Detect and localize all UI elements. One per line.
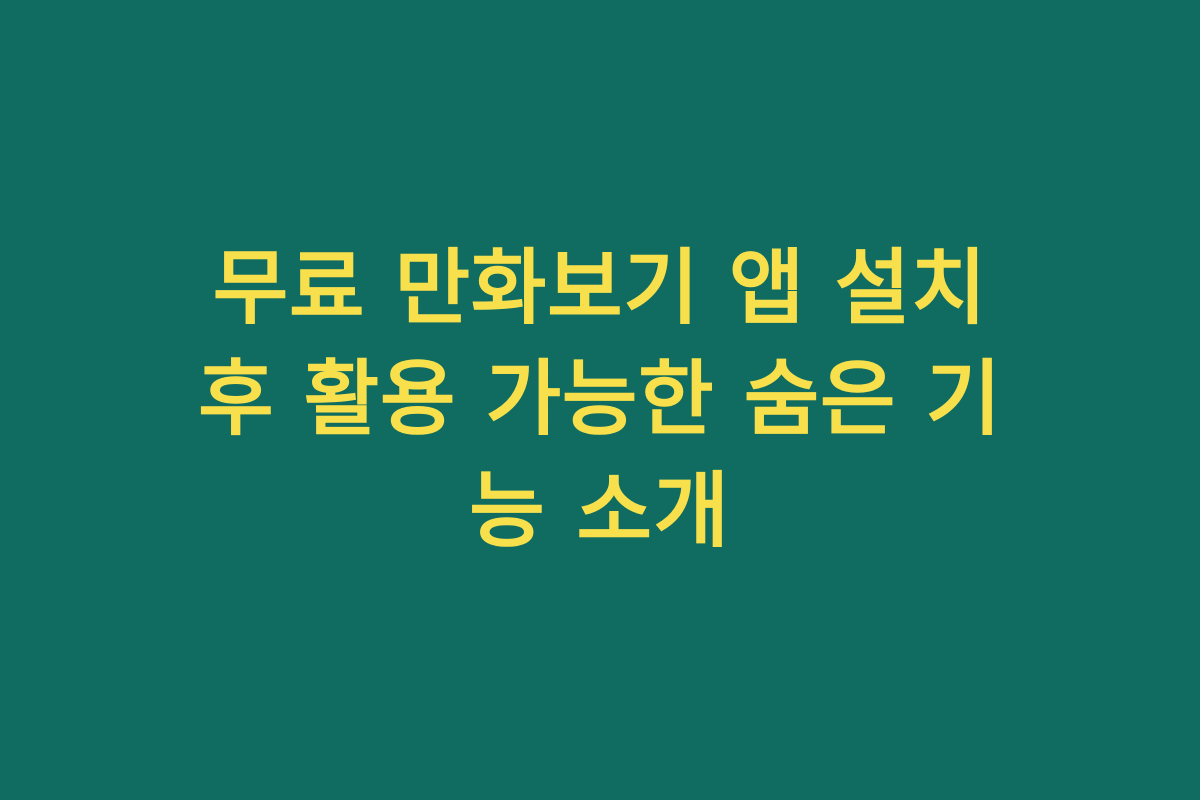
headline-line-1: 무료 만화보기 앱 설치: [110, 233, 1090, 345]
page-title: 무료 만화보기 앱 설치 후 활용 가능한 숨은 기 능 소개: [110, 233, 1090, 568]
headline-line-2: 후 활용 가능한 숨은 기: [110, 344, 1090, 456]
headline-line-3: 능 소개: [110, 456, 1090, 568]
banner-canvas: 무료 만화보기 앱 설치 후 활용 가능한 숨은 기 능 소개: [0, 0, 1200, 800]
